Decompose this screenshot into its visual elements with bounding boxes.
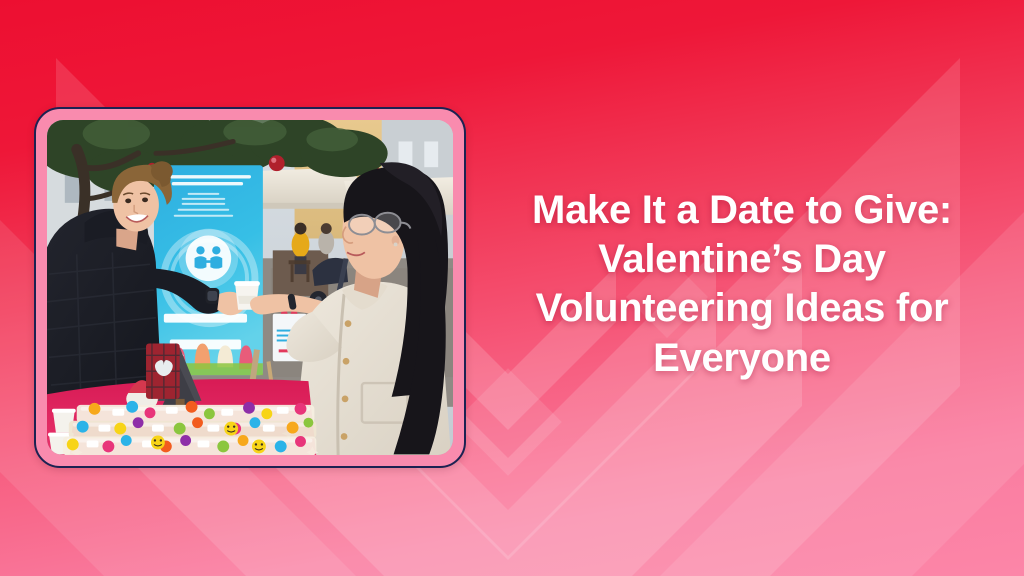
banner-headline: Make It a Date to Give: Valentine’s Day … bbox=[487, 186, 997, 383]
headline-line-2: Valentine’s Day bbox=[598, 237, 886, 281]
event-photo bbox=[47, 120, 453, 455]
photo-frame bbox=[34, 107, 466, 468]
headline-line-3: Volunteering Ideas for bbox=[536, 286, 949, 330]
banner-canvas: Make It a Date to Give: Valentine’s Day … bbox=[0, 0, 1024, 576]
headline-line-1: Make It a Date to Give: bbox=[532, 188, 952, 232]
headline-line-4: Everyone bbox=[653, 336, 831, 380]
